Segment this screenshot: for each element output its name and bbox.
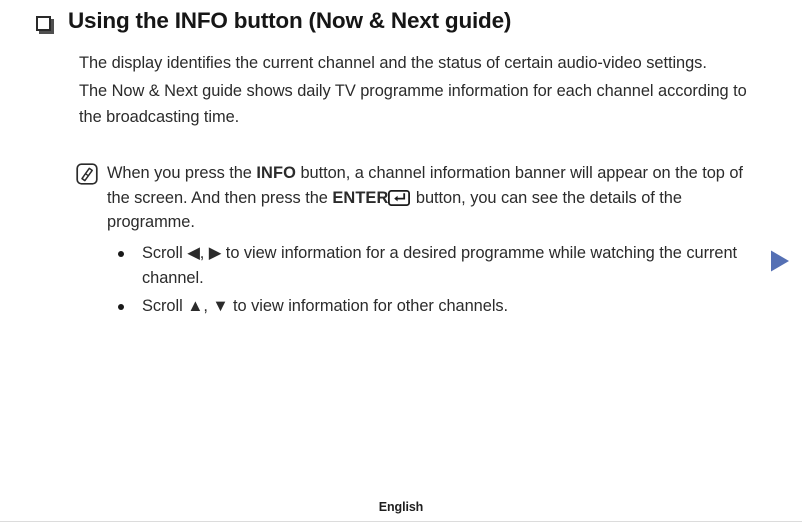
list-item: Scroll ◀, ▶ to view information for a de… [118,241,758,290]
section-heading: Using the INFO button (Now & Next guide) [36,6,511,36]
page-title: Using the INFO button (Now & Next guide) [68,6,511,36]
enter-keyword: ENTER [332,189,388,207]
square-bullet-icon [36,16,51,31]
paragraph-1: The display identifies the current chann… [79,50,754,76]
manual-page: Using the INFO button (Now & Next guide)… [0,0,802,525]
info-keyword: INFO [256,164,296,182]
paragraph-2: The Now & Next guide shows daily TV prog… [79,78,754,130]
intro-paragraphs: The display identifies the current chann… [79,50,754,132]
page-footer: English [0,498,802,516]
note-block: When you press the INFO button, a channe… [76,161,756,235]
footer-language-label: English [379,500,423,514]
round-bullet-icon [118,251,124,257]
note-pencil-icon [76,163,98,185]
note-text-part-1: When you press the [107,164,256,182]
list-item-label: Scroll ▲, ▼ to view information for othe… [142,294,752,319]
note-text: When you press the INFO button, a channe… [107,161,755,235]
footer-divider [0,521,802,522]
bullet-list: Scroll ◀, ▶ to view information for a de… [118,241,758,323]
list-item: Scroll ▲, ▼ to view information for othe… [118,294,758,319]
list-item-label: Scroll ◀, ▶ to view information for a de… [142,241,752,290]
enter-key-icon [388,189,410,205]
round-bullet-icon [118,304,124,310]
next-page-triangle-icon[interactable] [769,249,791,273]
